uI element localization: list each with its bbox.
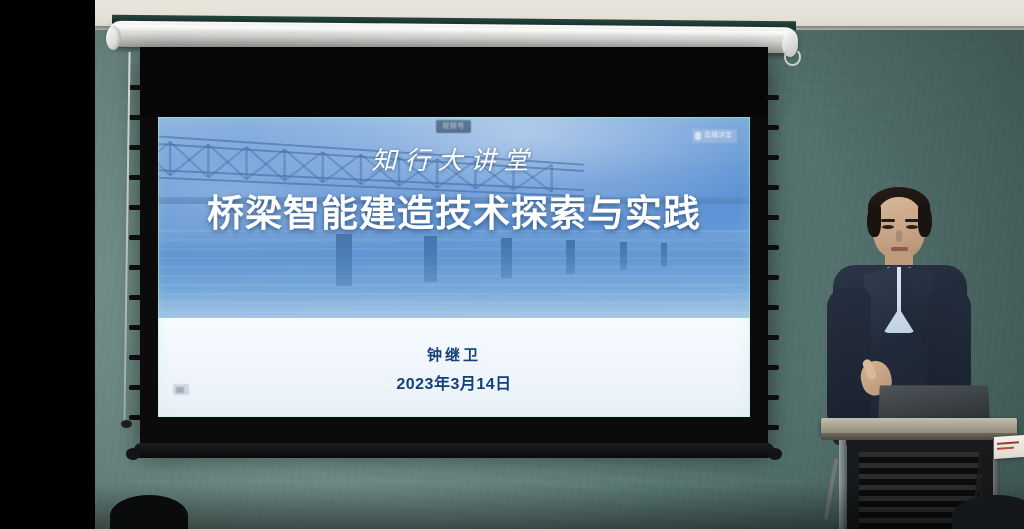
casing-highlight (114, 25, 792, 38)
slide-corner-icon (173, 384, 189, 395)
casing-hook-icon (784, 48, 801, 66)
screen-tension-tab (766, 155, 779, 160)
screen-tension-tab (129, 385, 142, 390)
screen-tension-tab (129, 295, 142, 300)
screen-tension-tab (129, 235, 142, 240)
audience-silhouette (110, 495, 188, 529)
speaker (815, 175, 1020, 529)
slide-presenter-name: 钟继卫 (158, 344, 750, 365)
screen-tension-tab (766, 185, 779, 190)
speaker-hair-right (918, 203, 932, 237)
screen-tension-tab (129, 205, 142, 210)
slide-kicker: 知行大讲堂 (158, 141, 750, 177)
screen-tension-tab (766, 305, 779, 310)
slide-date: 2023年3月14日 (158, 370, 750, 394)
screen-tension-tab (129, 115, 142, 120)
projection-screen[interactable]: 视频号 直播讲堂 知行大讲堂 桥梁智能建造技术探索与实践 钟继卫 2023年3月… (140, 47, 768, 446)
name-card (994, 435, 1024, 459)
screen-weight-bar[interactable] (134, 443, 774, 458)
speaker-brow-left (881, 219, 895, 222)
screen-tension-tab (129, 355, 142, 360)
screen-tension-tab (129, 85, 142, 90)
speaker-brow-right (905, 219, 919, 222)
slide-canvas: 视频号 直播讲堂 知行大讲堂 桥梁智能建造技术探索与实践 钟继卫 2023年3月… (158, 117, 750, 417)
laptop-screen[interactable] (878, 385, 989, 421)
speaker-eye-left (882, 225, 894, 229)
slide-title-block: 知行大讲堂 桥梁智能建造技术探索与实践 (158, 117, 750, 318)
screen-masking-top (140, 47, 768, 117)
letterbox-bar-left (0, 0, 95, 529)
floor-shadow (95, 483, 1024, 529)
speaker-eye-right (906, 225, 918, 229)
screen-weight-bar-cap-right (768, 448, 782, 460)
screen-tension-tab (766, 215, 779, 220)
screen-tension-tab (766, 275, 779, 280)
screen-tension-tab (766, 365, 779, 370)
screen-weight-bar-cap-left (126, 448, 140, 460)
speaker-arm-left (827, 287, 871, 427)
screen-tension-tab (129, 145, 142, 150)
projected-slide: 视频号 直播讲堂 知行大讲堂 桥梁智能建造技术探索与实践 钟继卫 2023年3月… (158, 117, 750, 417)
lecture-hall-photo: 视频号 直播讲堂 知行大讲堂 桥梁智能建造技术探索与实践 钟继卫 2023年3月… (0, 0, 1024, 529)
screen-tension-tab (129, 415, 142, 420)
speaker-mouth (891, 247, 908, 251)
screen-tension-tab (766, 95, 779, 100)
slide-main-title: 桥梁智能建造技术探索与实践 (158, 183, 750, 237)
screen-tension-tab (766, 395, 779, 400)
screen-tension-tab (766, 245, 779, 250)
screen-tension-tab (766, 335, 779, 340)
screen-tension-tab (129, 265, 142, 270)
screen-tension-tab (129, 325, 142, 330)
speaker-nose (896, 230, 902, 242)
slide-footer: 钟继卫 2023年3月14日 (158, 318, 750, 417)
screen-tension-tab (766, 125, 779, 130)
podium-top-edge (821, 433, 1017, 440)
pull-cord-knob[interactable] (121, 420, 132, 428)
speaker-hair-left (867, 203, 881, 237)
screen-tension-tab (129, 175, 142, 180)
screen-tension-tab (766, 425, 779, 430)
